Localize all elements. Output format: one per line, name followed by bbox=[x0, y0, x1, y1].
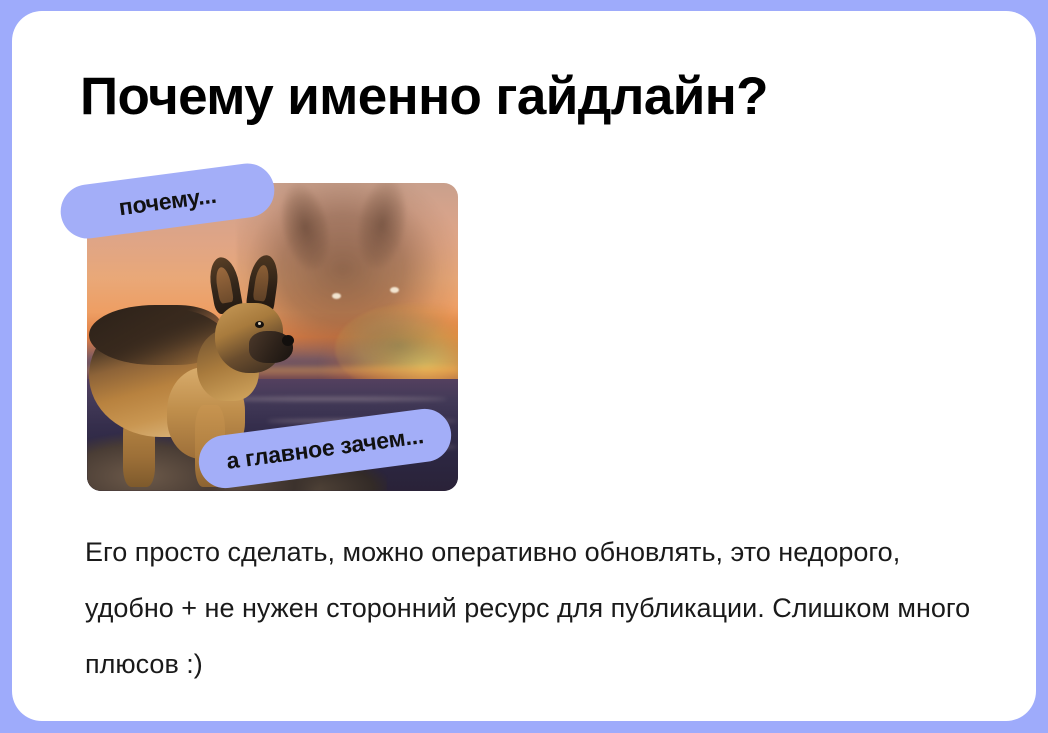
dog-eye-glint bbox=[258, 322, 261, 325]
dog-nose bbox=[282, 335, 294, 346]
speech-bubble-top-label: почему... bbox=[117, 181, 218, 221]
body-text: Его просто сделать, можно оперативно обн… bbox=[85, 524, 985, 692]
slide-frame: Почему именно гайдлайн? bbox=[0, 0, 1048, 733]
slide-card: Почему именно гайдлайн? bbox=[12, 11, 1036, 721]
ghost-dog-left-eye bbox=[332, 293, 341, 299]
ghost-dog-right-eye bbox=[390, 287, 399, 293]
page-title: Почему именно гайдлайн? bbox=[80, 68, 1010, 125]
